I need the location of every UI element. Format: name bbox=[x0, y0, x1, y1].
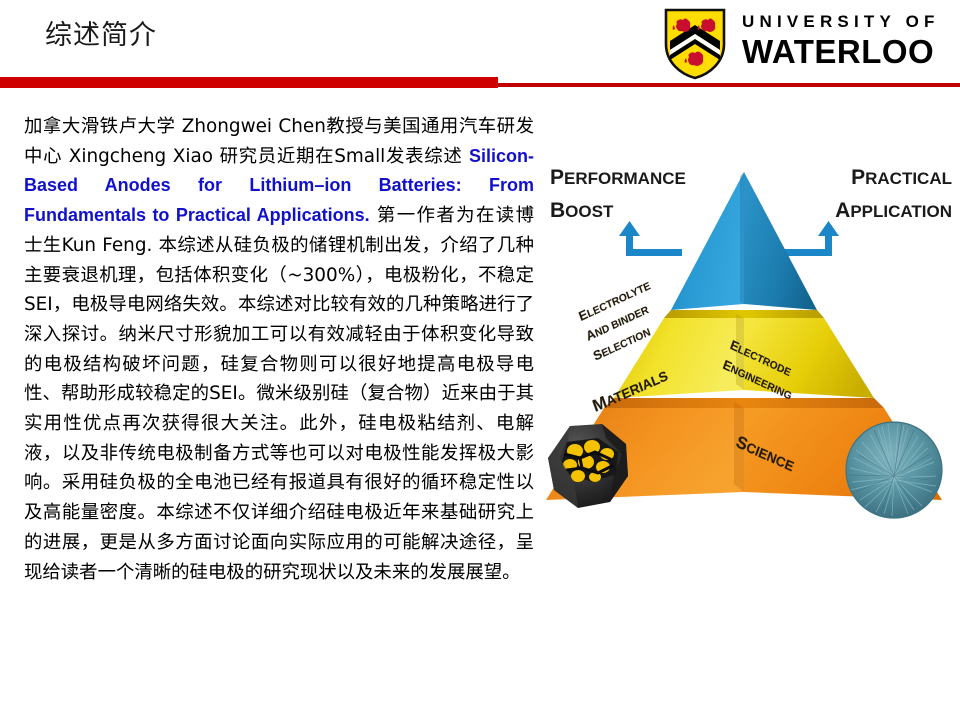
divider-rule-thick bbox=[0, 77, 498, 88]
university-of-waterloo-logo: UNIVERSITY OF WATERLOO bbox=[664, 6, 954, 78]
wordmark-line-1: UNIVERSITY OF bbox=[742, 12, 954, 32]
page-title: 综述简介 bbox=[45, 18, 157, 54]
waterloo-shield-icon bbox=[664, 8, 726, 80]
review-summary-paragraph: 加拿大滑铁卢大学 Zhongwei Chen教授与美国通用汽车研发中心 Xing… bbox=[24, 112, 534, 587]
body-segment-rest: 第一作者为在读博士生Kun Feng. 本综述从硅负极的储锂机制出发，介绍了几种… bbox=[24, 205, 534, 582]
silicon-nanowire-sem-image bbox=[844, 420, 944, 520]
waterloo-wordmark: UNIVERSITY OF WATERLOO bbox=[742, 12, 954, 74]
strategy-pyramid-diagram: PERFORMANCE BOOST PRACTICAL APPLICATION bbox=[528, 140, 960, 560]
body-segment-intro: 加拿大滑铁卢大学 Zhongwei Chen教授与美国通用汽车研发中心 Xing… bbox=[24, 116, 534, 167]
carbon-shell-silicon-particle-image bbox=[540, 418, 640, 518]
wordmark-line-2: WATERLOO bbox=[742, 34, 954, 70]
slide-canvas: 综述简介 UNIVERSITY OF WATERLOO 加拿大滑铁卢大学 Zho… bbox=[0, 0, 960, 720]
